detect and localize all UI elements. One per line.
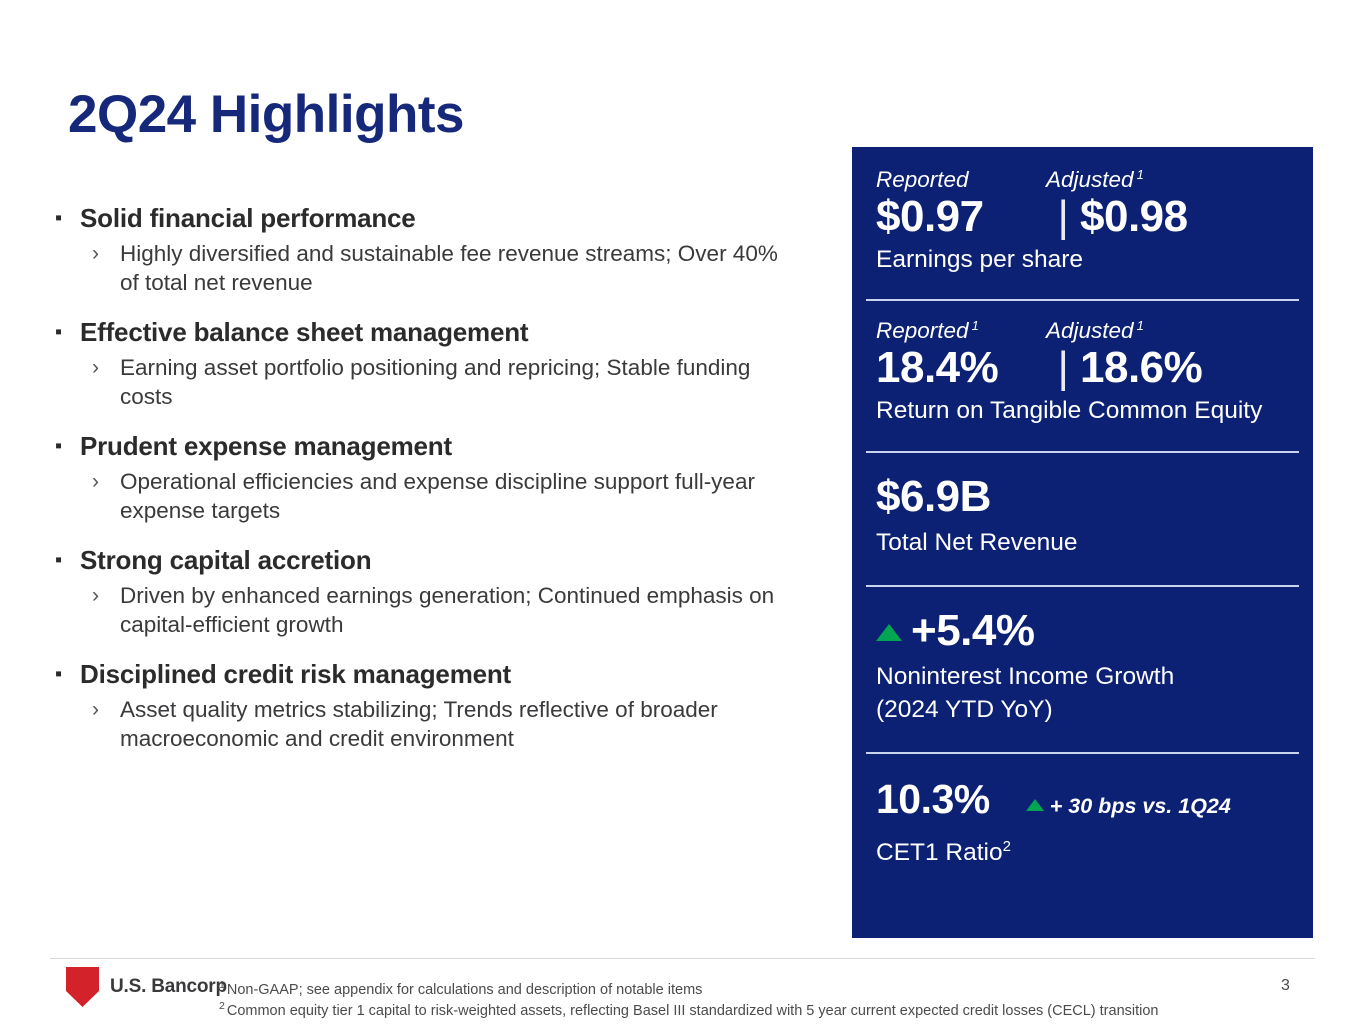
bullet-sub-row: › Asset quality metrics stabilizing; Tre… [50,695,810,753]
list-item: ▪ Effective balance sheet management › E… [50,317,810,411]
key-metrics-panel: Reported Adjusted1 $0.97 | $0.98 Earning… [852,147,1313,938]
metric-total-net-revenue: $6.9B Total Net Revenue [852,453,1313,559]
footnote-2: 2Common equity tier 1 capital to risk-we… [219,1001,1158,1022]
footnote-1: 1Non-GAAP; see appendix for calculations… [219,980,1158,1001]
metric-return-on-tangible-common-equity: Reported1 Adjusted1 18.4% | 18.6% Return… [852,301,1313,427]
highlights-list: ▪ Solid financial performance › Highly d… [50,203,810,753]
rotce-label: Return on Tangible Common Equity [876,394,1289,427]
cet1-value-row: 10.3% + 30 bps vs. 1Q24 [876,775,1289,824]
footnote-marker: 1 [219,979,225,991]
eps-column-headers: Reported Adjusted1 [876,169,1289,192]
bullet-heading: Disciplined credit risk management [80,659,511,689]
rotce-reported-header: Reported1 [876,320,1046,343]
up-triangle-icon [876,624,902,641]
bullet-sub-row: › Highly diversified and sustainable fee… [50,239,810,297]
bullet-heading: Prudent expense management [80,431,452,461]
list-item: ▪ Strong capital accretion › Driven by e… [50,545,810,639]
shield-icon [66,967,99,1007]
bullet-heading-row: ▪ Disciplined credit risk management [50,659,810,689]
chevron-right-icon: › [92,353,120,382]
rotce-adjusted-header: Adjusted1 [1046,320,1144,343]
fee-growth-value: +5.4% [911,605,1034,658]
fee-growth-label-line1: Noninterest Income Growth [876,660,1289,693]
chevron-right-icon: › [92,581,120,610]
footnotes: 1Non-GAAP; see appendix for calculations… [219,980,1158,1022]
square-bullet-icon: ▪ [50,431,80,461]
bullet-heading: Strong capital accretion [80,545,371,575]
footnote-ref: 1 [972,318,979,333]
bullet-sub-row: › Driven by enhanced earnings generation… [50,581,810,639]
square-bullet-icon: ▪ [50,659,80,689]
fee-growth-label-line2: (2024 YTD YoY) [876,693,1289,726]
bullet-heading-row: ▪ Effective balance sheet management [50,317,810,347]
eps-label: Earnings per share [876,243,1289,276]
bullet-heading: Effective balance sheet management [80,317,528,347]
eps-values: $0.97 | $0.98 [876,192,1289,241]
cet1-value: 10.3% [876,775,990,824]
bullet-sub-row: › Earning asset portfolio positioning an… [50,353,810,411]
list-item: ▪ Disciplined credit risk management › A… [50,659,810,753]
square-bullet-icon: ▪ [50,545,80,575]
bullet-sub-row: › Operational efficiencies and expense d… [50,467,810,525]
up-triangle-icon [1026,799,1044,811]
chevron-right-icon: › [92,467,120,496]
rotce-reported-value: 18.4% [876,343,1046,392]
rotce-adjusted-value: 18.6% [1080,343,1202,392]
bullet-sub-text: Highly diversified and sustainable fee r… [120,239,792,297]
rotce-separator: | [1046,343,1080,392]
eps-adjusted-value: $0.98 [1080,192,1188,241]
list-item: ▪ Prudent expense management › Operation… [50,431,810,525]
bullet-sub-text: Operational efficiencies and expense dis… [120,467,792,525]
bullet-heading-row: ▪ Prudent expense management [50,431,810,461]
eps-reported-value: $0.97 [876,192,1046,241]
cet1-change-text: + 30 bps vs. 1Q24 [1050,794,1231,819]
bullet-heading: Solid financial performance [80,203,416,233]
metric-cet1-ratio: 10.3% + 30 bps vs. 1Q24 CET1 Ratio2 [852,754,1313,870]
usbancorp-logo: U.S. Bancorp [66,967,227,1007]
footnote-ref: 2 [1003,838,1011,855]
revenue-label: Total Net Revenue [876,526,1289,559]
bullet-sub-text: Earning asset portfolio positioning and … [120,353,792,411]
footnote-ref: 1 [1137,318,1144,333]
bullet-sub-text: Driven by enhanced earnings generation; … [120,581,792,639]
footnote-ref: 1 [1137,167,1144,182]
list-item: ▪ Solid financial performance › Highly d… [50,203,810,297]
bullet-heading-row: ▪ Solid financial performance [50,203,810,233]
cet1-change-note: + 30 bps vs. 1Q24 [1026,794,1231,819]
footnote-marker: 2 [219,1000,225,1012]
metric-noninterest-income-growth: +5.4% Noninterest Income Growth (2024 YT… [852,587,1313,726]
fee-growth-value-row: +5.4% [876,605,1289,658]
page-title: 2Q24 Highlights [68,86,464,144]
square-bullet-icon: ▪ [50,203,80,233]
revenue-value: $6.9B [876,471,1289,524]
chevron-right-icon: › [92,239,120,268]
cet1-label: CET1 Ratio2 [876,836,1289,869]
bullet-sub-text: Asset quality metrics stabilizing; Trend… [120,695,792,753]
rotce-values: 18.4% | 18.6% [876,343,1289,392]
eps-separator: | [1046,192,1080,241]
square-bullet-icon: ▪ [50,317,80,347]
page-number: 3 [1281,977,1290,995]
metric-earnings-per-share: Reported Adjusted1 $0.97 | $0.98 Earning… [852,147,1313,276]
eps-adjusted-header: Adjusted1 [1046,169,1144,192]
eps-reported-header: Reported [876,169,1046,192]
chevron-right-icon: › [92,695,120,724]
rotce-column-headers: Reported1 Adjusted1 [876,320,1289,343]
logo-text: U.S. Bancorp [110,976,227,998]
bullet-heading-row: ▪ Strong capital accretion [50,545,810,575]
footer-divider [50,958,1315,959]
